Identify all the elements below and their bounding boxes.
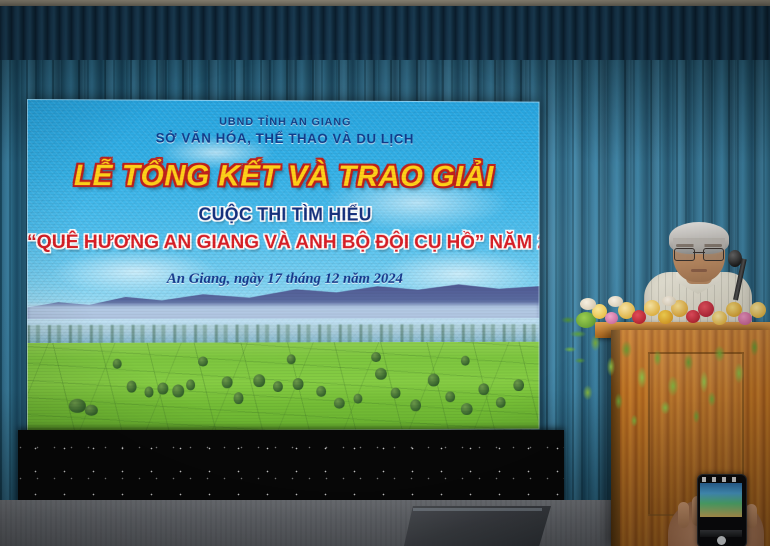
- banner-subtitle: CUỘC THI TÌM HIỂU: [27, 204, 540, 226]
- photograph-scene: UBND TỈNH AN GIANG SỞ VĂN HÓA, THỂ THAO …: [0, 0, 770, 546]
- field-tree: [478, 383, 489, 395]
- flower-yellow: [750, 302, 766, 318]
- field-tree: [172, 384, 184, 397]
- field-tree: [428, 374, 440, 387]
- field-tree: [157, 382, 168, 394]
- podium-trailing-greenery: [576, 330, 770, 438]
- field-tree: [273, 381, 283, 392]
- smartphone-icon[interactable]: [697, 474, 747, 546]
- field-tree: [85, 405, 98, 416]
- field-tree: [293, 378, 304, 390]
- field-tree: [496, 397, 506, 408]
- flower-red: [632, 310, 646, 324]
- field-tree: [316, 386, 326, 397]
- banner-main-title: LỄ TỔNG KẾT VÀ TRAO GIẢI: [27, 159, 540, 194]
- banner-organization-line: UBND TỈNH AN GIANG: [27, 115, 540, 129]
- field-tree: [145, 387, 154, 398]
- field-tree: [354, 394, 363, 404]
- eyeglasses-icon: [674, 248, 724, 259]
- field-tree: [127, 381, 137, 393]
- flower-yellow: [658, 310, 673, 324]
- phone-shutter-button[interactable]: [717, 536, 726, 545]
- banner-contest-name: “QUÊ HƯƠNG AN GIANG VÀ ANH BỘ ĐỘI CỤ HỒ”…: [27, 231, 540, 254]
- finger: [678, 502, 689, 528]
- flower-yellow: [712, 311, 727, 325]
- phone-top-indicators: [702, 477, 742, 482]
- field-tree: [253, 374, 265, 387]
- field-tree: [186, 379, 195, 390]
- field-tree: [234, 392, 244, 404]
- field-tree: [375, 368, 387, 380]
- speaker-eyebrows: [676, 244, 722, 247]
- phone-viewfinder: [700, 483, 742, 517]
- field-tree: [513, 379, 524, 391]
- field-tree: [113, 359, 122, 369]
- field-tree: [445, 391, 455, 402]
- banner-date-line: An Giang, ngày 17 tháng 12 năm 2024: [27, 271, 540, 288]
- field-tree: [461, 356, 470, 366]
- flower-cream: [662, 296, 676, 306]
- field-tree: [334, 398, 345, 409]
- flower-pink: [605, 312, 618, 324]
- flower-pink: [738, 312, 752, 325]
- flower-cream: [608, 296, 623, 307]
- stage-valance: [0, 6, 770, 68]
- stage-floor-monitor: [404, 506, 551, 546]
- field-tree: [410, 399, 421, 411]
- field-tree: [198, 356, 208, 366]
- stage-skirt: [18, 430, 564, 505]
- led-screen-banner: UBND TỈNH AN GIANG SỞ VĂN HÓA, THỂ THAO …: [27, 99, 540, 432]
- field-tree: [69, 399, 86, 413]
- speaker-mouth: [691, 269, 707, 272]
- field-tree: [391, 388, 401, 399]
- flower-cream: [580, 298, 596, 310]
- banner-department-line: SỞ VĂN HÓA, THỂ THAO VÀ DU LỊCH: [27, 130, 540, 147]
- field-tree: [371, 352, 381, 362]
- finger: [746, 504, 757, 528]
- field-tree: [287, 354, 296, 364]
- field-tree: [222, 376, 233, 388]
- field-tree: [461, 403, 473, 415]
